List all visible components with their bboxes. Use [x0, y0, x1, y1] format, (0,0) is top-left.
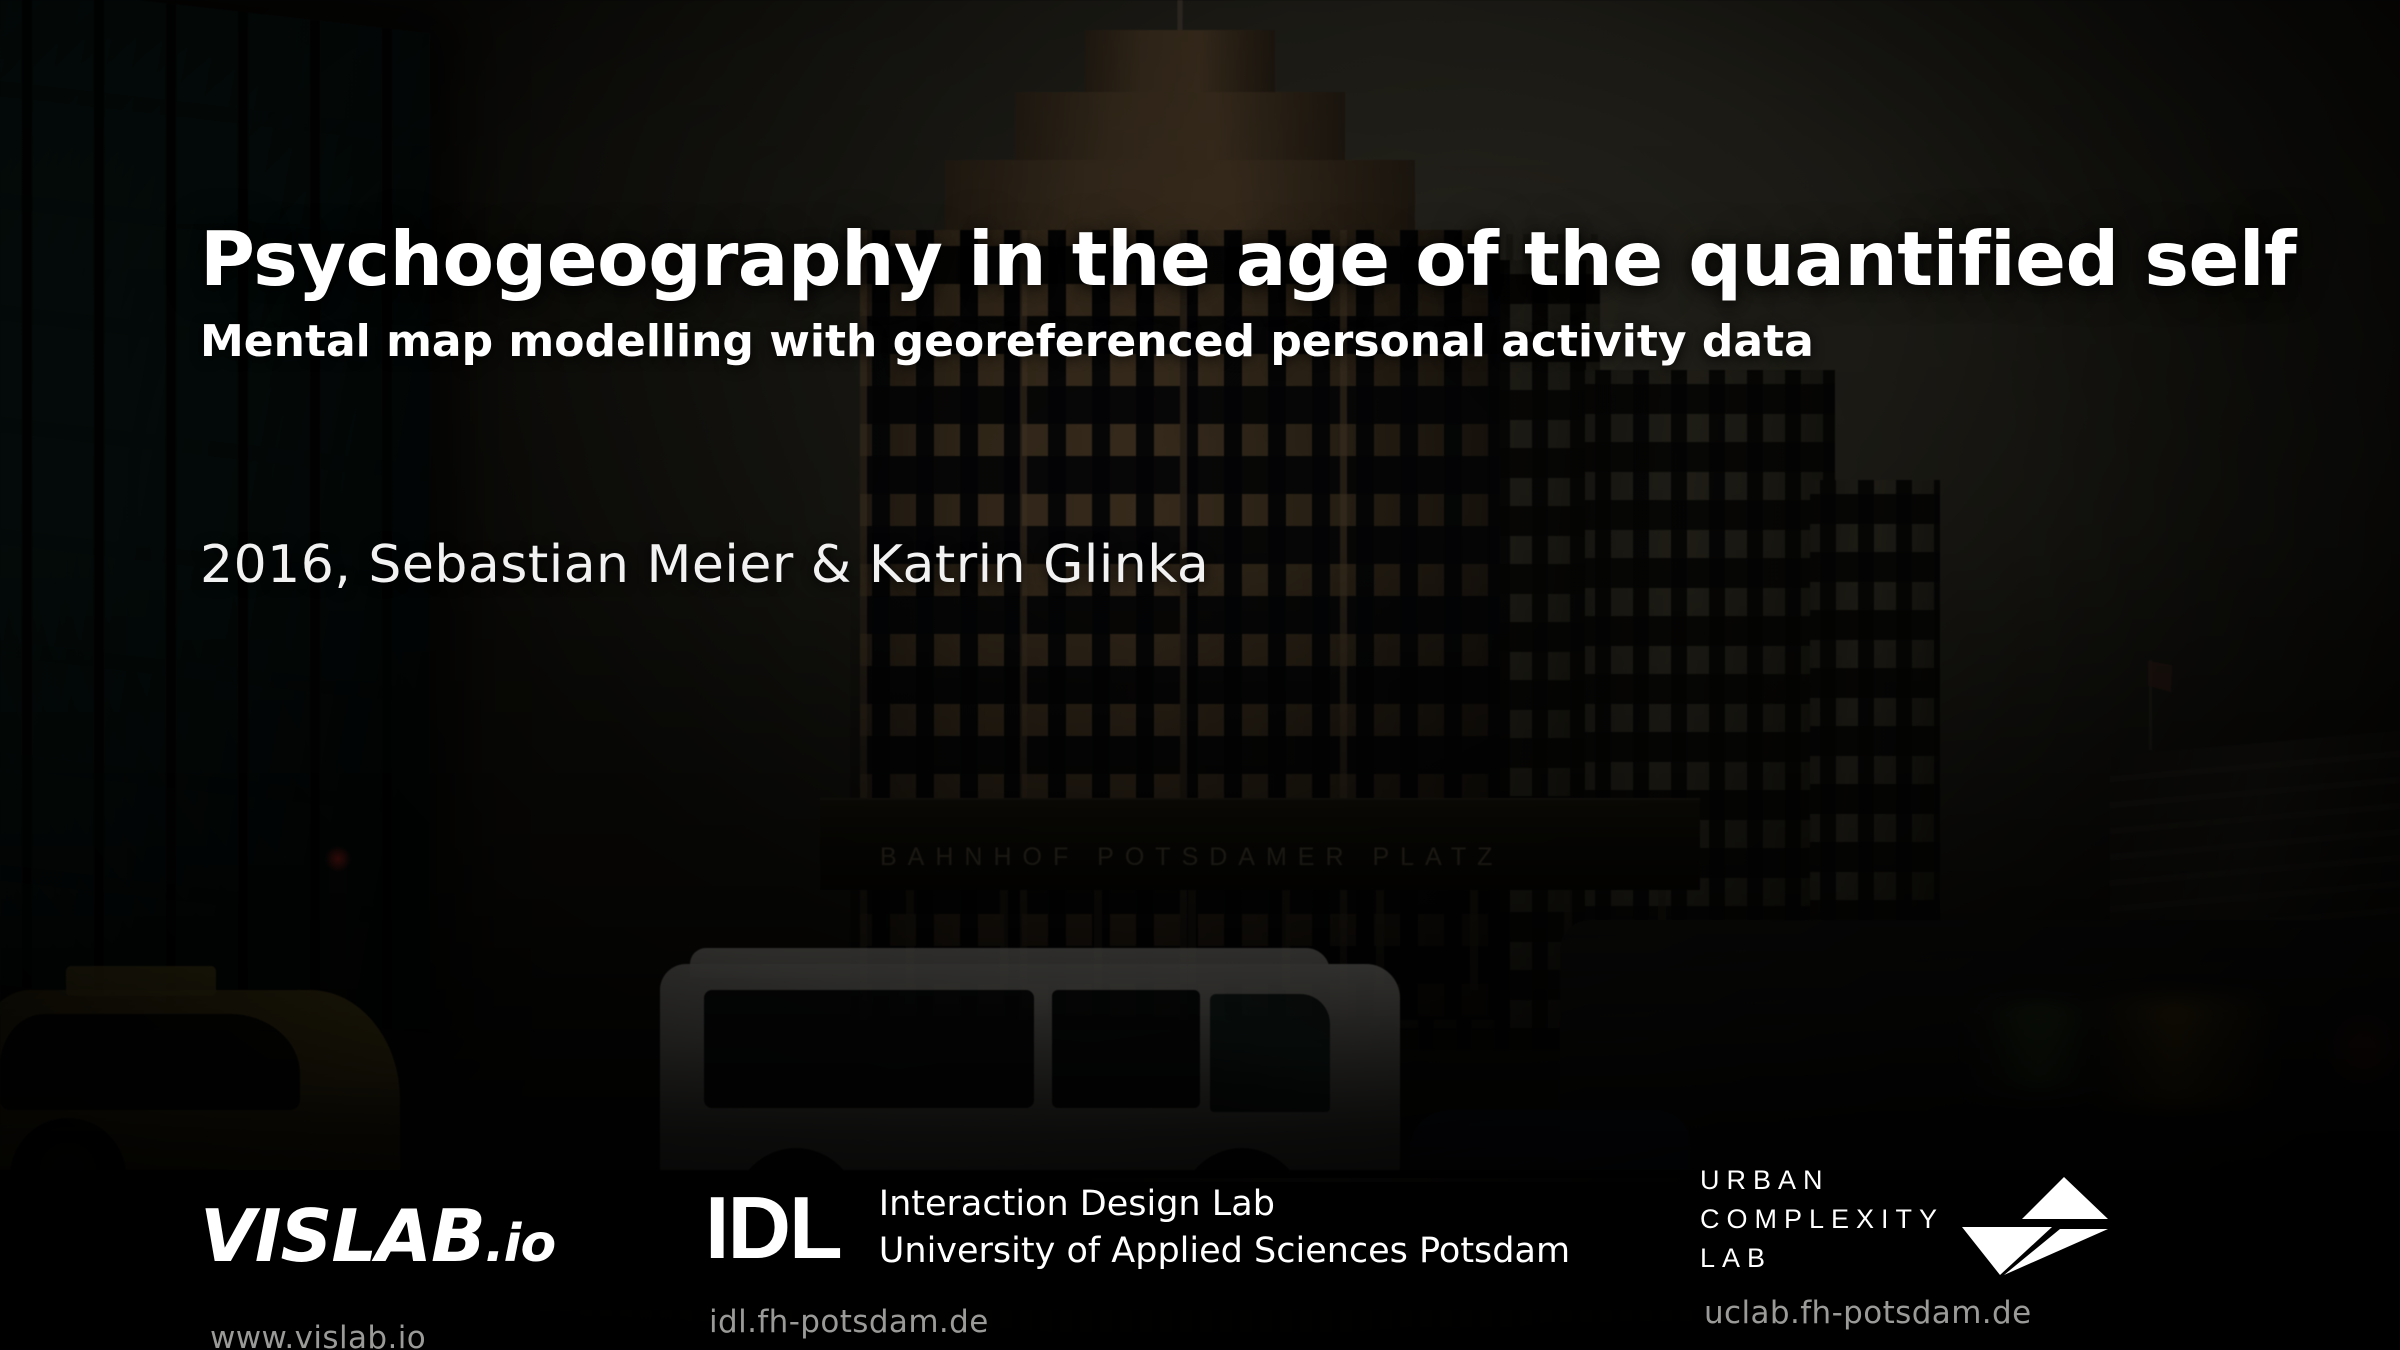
footer-logo-bar: VISLAB.io www.vislab.io IDL Interaction … [0, 1090, 2400, 1350]
uclab-text-lines: URBAN COMPLEXITY LAB [1700, 1167, 1944, 1272]
uclab-triangle-mark-icon [1960, 1171, 2110, 1276]
idl-lockup: IDL Interaction Design Lab University of… [705, 1184, 1570, 1272]
uclab-line-3: LAB [1700, 1245, 1944, 1272]
idl-wordmark: IDL [705, 1184, 841, 1272]
idl-text-lines: Interaction Design Lab University of App… [879, 1187, 1570, 1269]
idl-url[interactable]: idl.fh-potsdam.de [709, 1304, 989, 1340]
idl-line-1: Interaction Design Lab [879, 1187, 1570, 1222]
vislab-wordmark-suffix: .io [485, 1214, 555, 1274]
vislab-wordmark-main: VISLAB [200, 1194, 485, 1278]
logo-idl[interactable]: IDL Interaction Design Lab University of… [705, 1184, 1570, 1272]
vislab-wordmark: VISLAB.io [200, 1200, 555, 1272]
slide-content: Psychogeography in the age of the quanti… [0, 0, 2400, 1350]
slide-authors: 2016, Sebastian Meier & Katrin Glinka [200, 535, 1209, 595]
idl-line-2: University of Applied Sciences Potsdam [879, 1234, 1570, 1269]
logo-vislab[interactable]: VISLAB.io www.vislab.io [200, 1200, 555, 1272]
title-block: Psychogeography in the age of the quanti… [200, 222, 2296, 365]
slide-title: Psychogeography in the age of the quanti… [200, 222, 2296, 297]
logo-uclab[interactable]: URBAN COMPLEXITY LAB uclab.fh-potsdam.de [1700, 1167, 2110, 1272]
uclab-lockup: URBAN COMPLEXITY LAB [1700, 1167, 2110, 1272]
uclab-line-1: URBAN [1700, 1167, 1944, 1194]
slide-subtitle: Mental map modelling with georeferenced … [200, 319, 2296, 365]
title-slide: BAHNHOF POTSDAMER PLATZ [0, 0, 2400, 1350]
uclab-url[interactable]: uclab.fh-potsdam.de [1704, 1295, 2032, 1331]
uclab-line-2: COMPLEXITY [1700, 1206, 1944, 1233]
vislab-url[interactable]: www.vislab.io [210, 1320, 426, 1350]
